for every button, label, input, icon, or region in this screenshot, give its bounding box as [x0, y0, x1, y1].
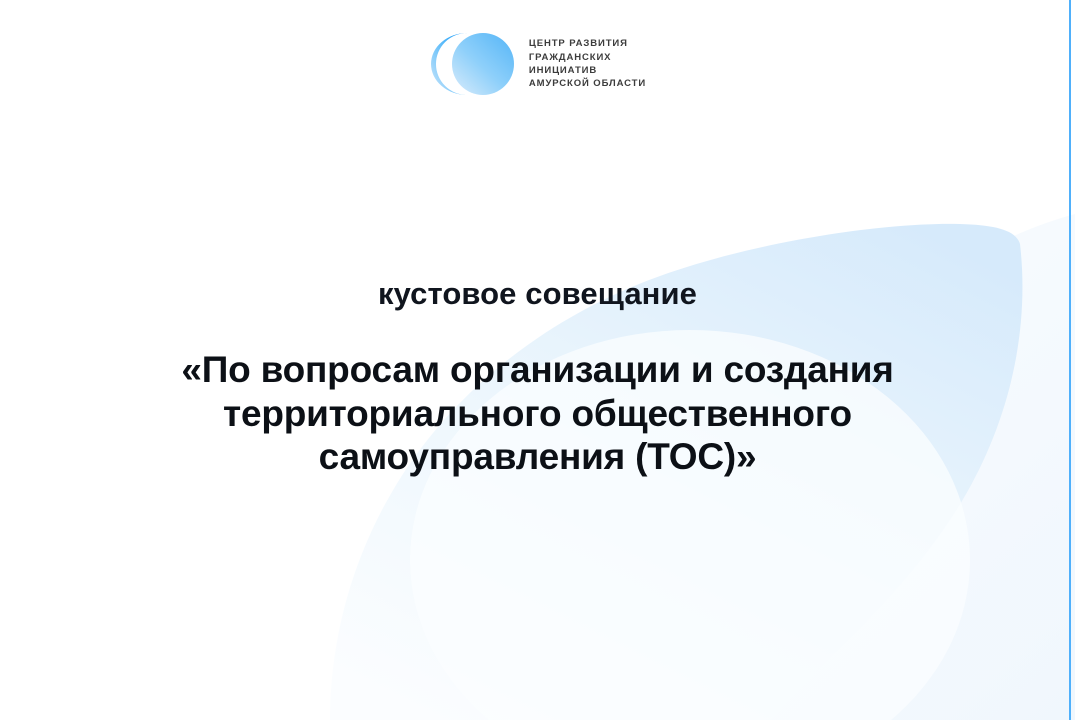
slide-title-line-2: территориального общественного: [0, 392, 1075, 436]
event-kicker: кустовое совещание: [0, 276, 1075, 312]
slide-title-line-1: «По вопросам организации и создания: [0, 348, 1075, 392]
slide-title: «По вопросам организации и создания терр…: [0, 348, 1075, 479]
slide-content: кустовое совещание «По вопросам организа…: [0, 0, 1075, 720]
slide-canvas: ЦЕНТР РАЗВИТИЯ ГРАЖДАНСКИХ ИНИЦИАТИВ АМУ…: [0, 0, 1075, 720]
slide-title-line-3: самоуправления (ТОС)»: [0, 435, 1075, 479]
